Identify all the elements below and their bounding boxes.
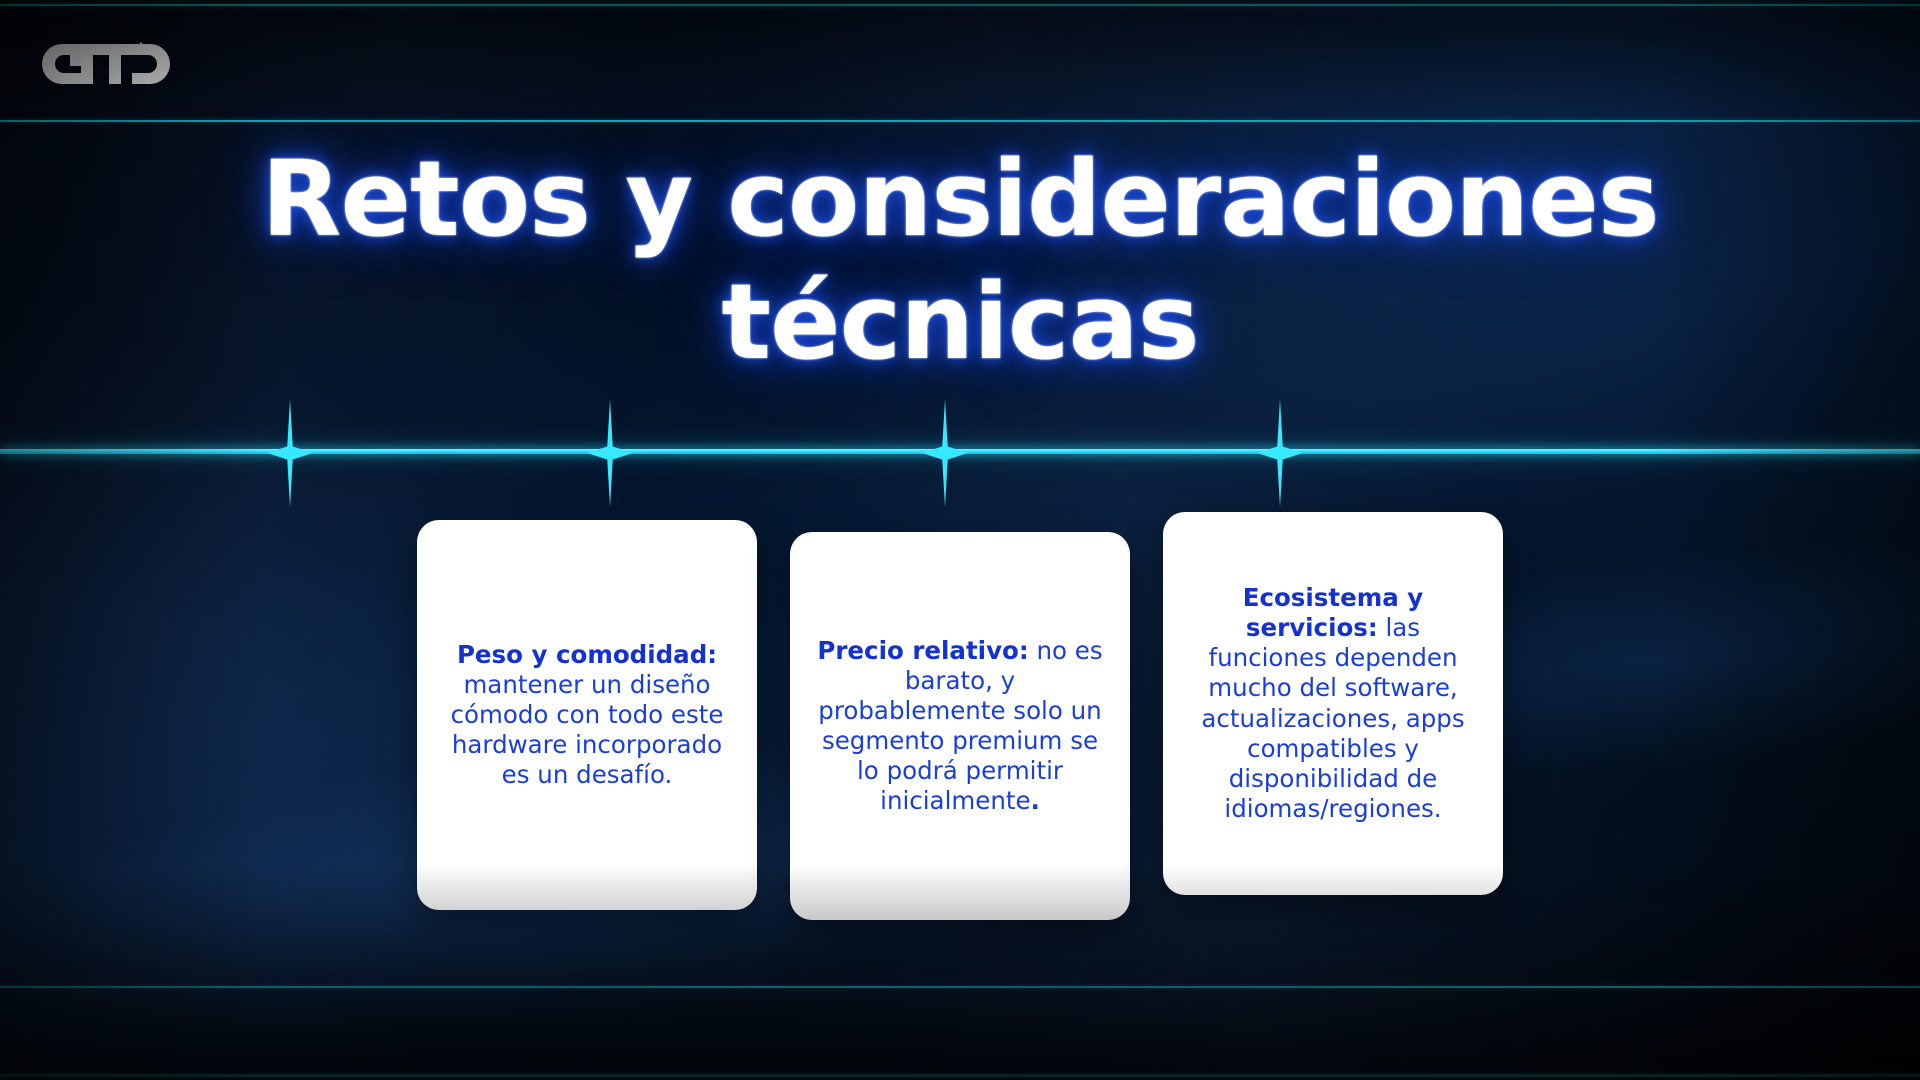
card-lead: Precio relativo: — [817, 636, 1028, 665]
bottom-rule — [0, 986, 1920, 988]
header-rule — [0, 120, 1920, 122]
title-line-2: técnicas — [0, 261, 1920, 384]
card-peso-comodidad: Peso y comodidad: mantener un diseño cóm… — [417, 520, 757, 910]
card-list: Peso y comodidad: mantener un diseño cóm… — [0, 520, 1920, 920]
neon-divider — [0, 449, 1920, 454]
footer-rule — [0, 1074, 1920, 1077]
card-text: Peso y comodidad: mantener un diseño cóm… — [441, 640, 733, 791]
card-tail: . — [1031, 786, 1040, 815]
page-title: Retos y consideraciones técnicas — [0, 138, 1920, 383]
gtd-logo — [40, 42, 170, 86]
card-text: Ecosistema y servicios: las funciones de… — [1187, 583, 1479, 824]
card-body: las funciones dependen mucho del softwar… — [1201, 613, 1464, 823]
card-lead: Peso y comodidad: — [457, 640, 717, 669]
card-body: mantener un diseño cómodo con todo este … — [451, 670, 724, 789]
card-ecosistema-servicios: Ecosistema y servicios: las funciones de… — [1163, 512, 1503, 895]
top-rule — [0, 4, 1920, 6]
title-line-1: Retos y consideraciones — [0, 138, 1920, 261]
card-text: Precio relativo: no es barato, y probabl… — [814, 636, 1106, 817]
card-precio-relativo: Precio relativo: no es barato, y probabl… — [790, 532, 1130, 920]
slide-root: Retos y consideraciones técnicas Peso y … — [0, 0, 1920, 1080]
